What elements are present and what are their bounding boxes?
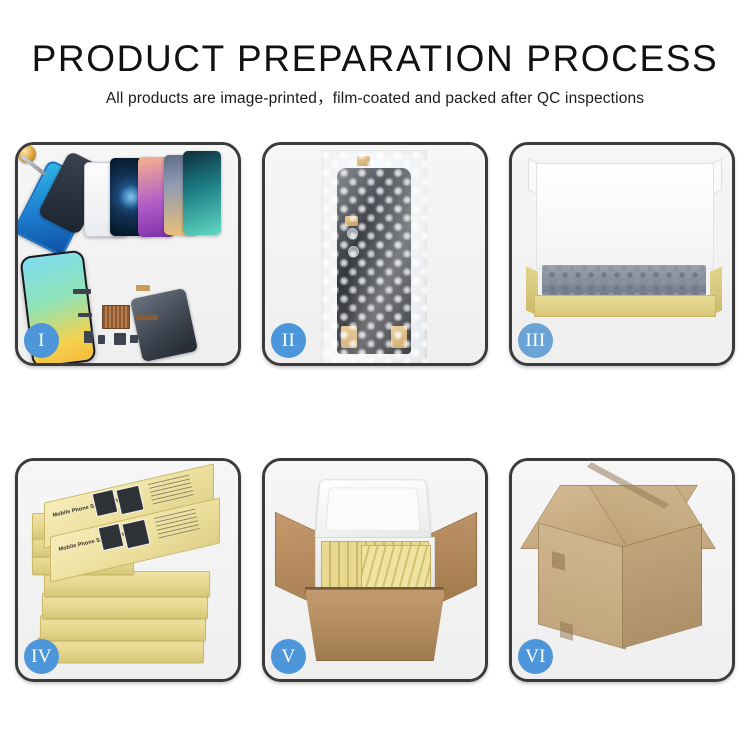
sim-tray-icon [98,335,105,344]
step-numeral-5: V [281,646,295,668]
page-header: PRODUCT PREPARATION PROCESS All products… [0,38,750,110]
flex-ribbon-icon [136,315,158,320]
carton-tape-lower [560,621,573,641]
flex-cable-icon [78,313,92,317]
step-numeral-4: IV [31,646,52,668]
process-step-grid: I II [15,142,735,682]
plastic-sheen [321,150,427,364]
process-step-panel-2[interactable]: II [262,142,488,366]
process-step-panel-6[interactable]: VI [509,458,735,682]
process-step-panel-3[interactable]: III [509,142,735,366]
small-part-icon [73,289,91,294]
process-step-panel-4[interactable]: Mobile Phone Spare Parts Mobile Phone Sp… [15,458,241,682]
step-numeral-3: III [525,330,545,352]
step-badge-3: III [518,323,553,358]
carton-front-face [305,589,445,661]
step-3-illustration: III [512,145,732,363]
circuit-board-icon [102,305,130,329]
bubble-padding-fill [542,265,706,295]
process-step-panel-5[interactable]: V [262,458,488,682]
step-numeral-1: I [38,330,45,352]
page-title: PRODUCT PREPARATION PROCESS [0,38,750,80]
carton-side-face-right [622,524,702,649]
box-base-front [534,295,716,317]
page-subtitle: All products are image-printed，film-coat… [0,88,750,110]
gold-connector-icon [136,285,150,291]
lcd-screen-teal-icon [183,151,221,235]
phone-housing-icon [130,288,198,362]
step-badge-1: I [24,323,59,358]
step-badge-2: II [271,323,306,358]
step-5-illustration: V [265,461,485,679]
carton-tape-upper [552,551,565,571]
process-step-panel-1[interactable]: I [15,142,241,366]
step-6-illustration: VI [512,461,732,679]
step-numeral-2: II [282,330,295,352]
box-lid-panel [536,163,714,269]
foam-lid [314,479,432,541]
button-part-icon [130,335,138,343]
step-badge-4: IV [24,639,59,674]
camera-module-icon [84,331,93,343]
ic-chip-icon [114,333,126,345]
step-numeral-6: VI [525,646,546,668]
step-4-illustration: Mobile Phone Spare Parts Mobile Phone Sp… [18,461,238,679]
step-1-illustration: I [18,145,238,363]
step-2-illustration: II [265,145,485,363]
step-badge-6: VI [518,639,553,674]
step-badge-5: V [271,639,306,674]
bubble-wrap-bag [321,150,427,364]
packed-yellow-boxes-row-2 [361,545,431,589]
